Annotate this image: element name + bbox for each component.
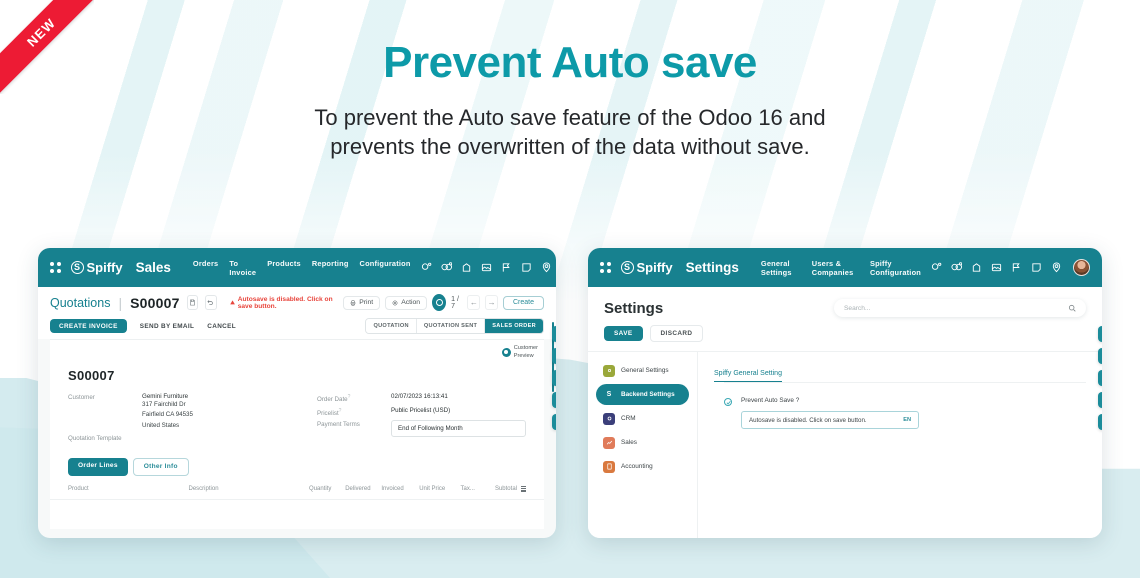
star-icon[interactable] [552, 326, 556, 342]
action-label: Action [401, 299, 420, 306]
pricelist-label: Pricelist? [317, 407, 391, 417]
customer-value[interactable]: Gemini Furniture [142, 393, 188, 400]
status-quotation[interactable]: QUOTATION [366, 319, 416, 333]
sales-icon [603, 437, 615, 449]
autosave-warning-text: Autosave is disabled. Click on save butt… [238, 296, 337, 310]
search-icon[interactable] [552, 348, 556, 364]
expand-icon[interactable] [552, 370, 556, 386]
menu-item-users-companies[interactable]: Users & Companies [812, 259, 859, 277]
discard-record-icon[interactable] [205, 295, 217, 310]
menu-item-spiffy-configuration[interactable]: Spiffy Configuration [870, 259, 921, 277]
customer-label: Customer [68, 393, 142, 431]
previous-record-button[interactable]: ← [467, 295, 480, 310]
note-icon[interactable] [521, 262, 532, 273]
pricelist-value[interactable]: Public Pricelist (USD) [391, 407, 450, 417]
cancel-button[interactable]: CANCEL [207, 323, 236, 330]
page-subtitle: To prevent the Auto save feature of the … [0, 104, 1140, 161]
settings-content: Spiffy General Setting Prevent Auto Save… [698, 352, 1102, 538]
status-quotation-sent[interactable]: QUOTATION SENT [417, 319, 485, 333]
order-date-label: Order Date? [317, 393, 391, 403]
customer-address-line1: 317 Fairchild Dr [142, 400, 193, 410]
column-options-icon[interactable] [521, 486, 526, 492]
brand-logo[interactable]: S Spiffy [71, 260, 123, 275]
activities-icon[interactable] [951, 262, 962, 273]
search-icon[interactable] [1068, 304, 1076, 312]
warning-triangle-icon [230, 299, 235, 306]
search-placeholder: Search... [844, 305, 870, 312]
create-invoice-button[interactable]: CREATE INVOICE [50, 319, 127, 333]
print-button[interactable]: Print [343, 296, 380, 310]
accounting-icon [603, 461, 615, 473]
sales-order-sheet: Customer Preview S00007 Customer Gemini … [50, 339, 544, 529]
zoom-icon[interactable] [1098, 392, 1102, 408]
new-ribbon-label: NEW [24, 15, 59, 50]
settings-navbar: S Spiffy Settings General Settings Users… [588, 248, 1102, 287]
record-state-indicator[interactable] [432, 294, 446, 311]
form-column-left: Customer Gemini Furniture 317 Fairchild … [68, 393, 297, 446]
apps-menu-icon[interactable] [600, 262, 611, 273]
column-subtotal-wrap: Subtotal [495, 486, 526, 492]
sales-navbar: S Spiffy Sales Orders To Invoice Product… [38, 248, 556, 287]
record-title: S00007 [50, 360, 544, 383]
apps-menu-icon[interactable] [50, 262, 61, 273]
column-unit-price: Unit Price [419, 486, 460, 492]
gallery-icon[interactable] [991, 262, 1002, 273]
sidebar-label-sales: Sales [621, 439, 637, 446]
sidebar-item-backend-settings[interactable]: S Backend Settings [596, 384, 689, 405]
sheet-tabs: Order Lines Other Info [50, 446, 544, 476]
brand-name: Spiffy [637, 260, 673, 275]
subtitle-line-1: To prevent the Auto save feature of the … [314, 105, 825, 130]
sidebar-item-accounting[interactable]: Accounting [596, 456, 689, 477]
breadcrumb-parent[interactable]: Quotations [50, 296, 110, 310]
tab-order-lines[interactable]: Order Lines [68, 458, 128, 476]
sidebar-item-sales[interactable]: Sales [596, 432, 689, 453]
sales-screenshot-panel: S Spiffy Sales Orders To Invoice Product… [38, 248, 556, 538]
menu-item-orders[interactable]: Orders [193, 259, 218, 277]
sidebar-item-crm[interactable]: CRM [596, 408, 689, 429]
expand-icon[interactable] [1098, 370, 1102, 386]
current-app-name: Settings [686, 260, 739, 275]
save-record-icon[interactable] [187, 295, 199, 310]
customer-preview-line1: Customer [514, 345, 538, 351]
settings-action-buttons: SAVE DISCARD [588, 317, 1102, 351]
quotation-template-label: Quotation Template [68, 434, 142, 442]
sales-control-panel: Quotations | S00007 Autosave is disabled… [38, 287, 556, 339]
next-record-button[interactable]: → [485, 295, 498, 310]
settings-page-title: Settings [604, 300, 663, 317]
menu-item-to-invoice[interactable]: To Invoice [229, 259, 256, 277]
sales-menu: Orders To Invoice Products Reporting Con… [193, 259, 411, 277]
flag-icon[interactable] [1011, 262, 1022, 273]
preview-icon [502, 348, 511, 357]
column-invoiced: Invoiced [381, 486, 419, 492]
payment-terms-label: Payment Terms [317, 420, 391, 437]
menu-item-configuration[interactable]: Configuration [360, 259, 411, 277]
note-icon[interactable] [1031, 262, 1042, 273]
navbar-right-icons [421, 259, 556, 276]
status-bar: QUOTATION QUOTATION SENT SALES ORDER [365, 318, 544, 334]
settings-menu: General Settings Users & Companies Spiff… [761, 259, 921, 277]
promo-banner: NEW Prevent Auto save To prevent the Aut… [0, 0, 1140, 578]
crm-icon [603, 413, 615, 425]
spiffy-icon: S [603, 389, 615, 401]
sidebar-item-general-settings[interactable]: General Settings [596, 360, 689, 381]
bookmark-icon[interactable] [552, 414, 556, 430]
sales-action-buttons: CREATE INVOICE SEND BY EMAIL CANCEL QUOT… [50, 318, 544, 339]
subtitle-line-2: prevents the overwritten of the data wit… [330, 134, 809, 159]
breadcrumb-record: S00007 [130, 295, 179, 311]
autosave-warning: Autosave is disabled. Click on save butt… [230, 296, 337, 310]
language-badge[interactable]: EN [903, 417, 911, 423]
customer-preview-button[interactable]: Customer Preview [502, 345, 538, 360]
action-button[interactable]: Action [385, 296, 427, 310]
status-sales-order[interactable]: SALES ORDER [485, 319, 543, 333]
column-delivered: Delivered [345, 486, 381, 492]
messages-icon[interactable] [931, 262, 942, 273]
customer-preview-line2: Preview [514, 353, 534, 359]
messages-icon[interactable] [421, 262, 432, 273]
content-tab-spiffy-general-setting[interactable]: Spiffy General Setting [714, 370, 782, 382]
print-label: Print [359, 299, 373, 306]
navbar-right-icons [931, 259, 1090, 276]
sidebar-label-general-settings: General Settings [621, 367, 669, 374]
column-tax: Tax... [461, 486, 495, 492]
send-by-email-button[interactable]: SEND BY EMAIL [140, 323, 195, 330]
pager-label: 1 / 7 [451, 296, 462, 310]
payment-terms-input[interactable]: End of Following Month [391, 420, 526, 437]
column-subtotal: Subtotal [495, 486, 517, 492]
zoom-icon[interactable] [552, 392, 556, 408]
order-date-value[interactable]: 02/07/2023 16:13:41 [391, 393, 448, 403]
user-avatar[interactable] [1073, 259, 1090, 276]
menu-item-general-settings[interactable]: General Settings [761, 259, 801, 277]
settings-body: Settings Search... SAVE DISCARD General … [588, 287, 1102, 538]
tab-other-info[interactable]: Other Info [133, 458, 189, 476]
settings-search-input[interactable]: Search... [834, 299, 1086, 317]
left-floating-toolbar [552, 326, 556, 430]
order-lines-table-header: Product Description Quantity Delivered I… [50, 476, 544, 500]
location-icon[interactable] [541, 262, 552, 273]
print-nav-icon[interactable] [971, 262, 982, 273]
sidebar-label-backend-settings: Backend Settings [621, 391, 675, 398]
brand-logo[interactable]: S Spiffy [621, 260, 673, 275]
discard-button[interactable]: DISCARD [650, 325, 704, 342]
right-floating-toolbar [1098, 326, 1102, 430]
flag-icon[interactable] [501, 262, 512, 273]
bookmark-icon[interactable] [1098, 414, 1102, 430]
new-ribbon: NEW [0, 0, 94, 94]
form-column-right: Order Date? 02/07/2023 16:13:41 Pricelis… [297, 393, 526, 446]
print-nav-icon[interactable] [461, 262, 472, 273]
settings-sidebar: General Settings S Backend Settings CRM [588, 352, 698, 538]
column-description: Description [189, 486, 310, 492]
hero-section: Prevent Auto save To prevent the Auto sa… [0, 38, 1140, 161]
brand-mark-icon: S [621, 261, 634, 274]
prevent-autosave-option: Prevent Auto Save ? Autosave is disabled… [714, 397, 1086, 429]
sidebar-label-accounting: Accounting [621, 463, 653, 470]
search-icon[interactable] [1098, 348, 1102, 364]
settings-screenshot-panel: S Spiffy Settings General Settings Users… [588, 248, 1102, 538]
create-button[interactable]: Create [503, 296, 544, 310]
gallery-icon[interactable] [481, 262, 492, 273]
brand-mark-icon: S [71, 261, 84, 274]
star-icon[interactable] [1098, 326, 1102, 342]
printer-icon [350, 300, 356, 306]
activities-icon[interactable] [441, 262, 452, 273]
customer-address-line2: Fairfield CA 94535 [142, 410, 193, 420]
brand-name: Spiffy [87, 260, 123, 275]
gear-icon [603, 365, 615, 377]
breadcrumb-separator: | [118, 295, 122, 311]
prevent-autosave-value: Autosave is disabled. Click on save butt… [749, 417, 867, 424]
customer-address-line3: United States [142, 421, 193, 431]
sidebar-label-crm: CRM [621, 415, 636, 422]
prevent-autosave-checkbox[interactable] [724, 398, 732, 406]
content-divider [724, 382, 1086, 383]
column-quantity: Quantity [309, 486, 345, 492]
location-icon[interactable] [1051, 262, 1062, 273]
page-title: Prevent Auto save [0, 38, 1140, 88]
prevent-autosave-input[interactable]: Autosave is disabled. Click on save butt… [741, 411, 919, 429]
menu-item-products[interactable]: Products [267, 259, 301, 277]
save-button[interactable]: SAVE [604, 326, 643, 341]
menu-item-reporting[interactable]: Reporting [312, 259, 349, 277]
prevent-autosave-label: Prevent Auto Save ? [741, 397, 919, 404]
current-app-name: Sales [136, 260, 171, 275]
column-product: Product [68, 486, 189, 492]
gear-icon [392, 300, 398, 306]
